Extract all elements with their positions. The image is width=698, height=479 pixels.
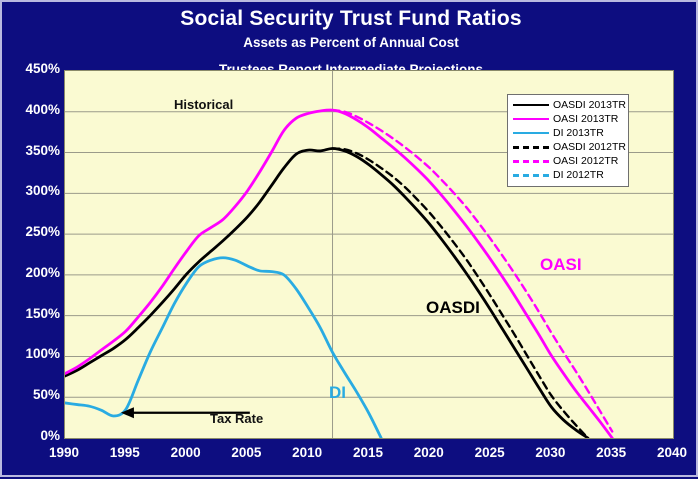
y-axis-tick-label: 450% [4,61,60,76]
legend-item-label: OASDI 2012TR [553,141,626,153]
annotation-historical: Historical [174,97,233,112]
chart-frame: Social Security Trust Fund Ratios Assets… [0,0,698,477]
series-label-di: DI [329,383,346,403]
series-line-oasdi-2012tr [333,148,588,438]
y-axis-tick-label: 50% [4,387,60,402]
y-axis-tick-label: 250% [4,224,60,239]
x-axis-tick-label: 1990 [36,445,92,460]
legend-item-label: DI 2013TR [553,127,604,139]
chart-title: Social Security Trust Fund Ratios [2,6,698,32]
legend-item-label: OASDI 2013TR [553,99,626,111]
x-axis-tick-label: 2025 [462,445,518,460]
series-label-oasi: OASI [540,255,582,275]
x-axis-tick-label: 2015 [340,445,396,460]
y-axis-tick-label: 350% [4,143,60,158]
annotation-tax-rate: Tax Rate [210,411,263,426]
legend-item[interactable]: DI 2012TR [512,168,624,182]
legend-swatch-icon [512,127,550,139]
legend-item[interactable]: OASI 2013TR [512,112,624,126]
y-axis: 450%400%350%300%250%200%150%100%50%0% [2,2,60,479]
series-line-oasdi-2013tr [65,148,588,438]
legend-item[interactable]: OASDI 2013TR [512,98,624,112]
x-axis-tick-label: 2030 [522,445,578,460]
legend-item[interactable]: OASI 2012TR [512,154,624,168]
x-axis-tick-label: 2035 [583,445,639,460]
legend-item[interactable]: OASDI 2012TR [512,140,624,154]
legend-swatch-icon [512,113,550,125]
legend-item-label: OASI 2013TR [553,113,618,125]
series-label-oasdi: OASDI [426,298,480,318]
y-axis-tick-label: 400% [4,102,60,117]
y-axis-tick-label: 300% [4,183,60,198]
x-axis: 1990199520002005201020152020202520302035… [2,445,698,469]
legend-swatch-icon [512,169,550,181]
legend-item-label: DI 2012TR [553,169,604,181]
legend-swatch-icon [512,155,550,167]
legend-item[interactable]: DI 2013TR [512,126,624,140]
x-axis-tick-label: 2040 [644,445,698,460]
y-axis-tick-label: 150% [4,306,60,321]
y-axis-tick-label: 0% [4,428,60,443]
x-axis-tick-label: 1995 [97,445,153,460]
legend-item-label: OASI 2012TR [553,155,618,167]
chart-subtitle: Assets as Percent of Annual Cost [2,33,698,52]
x-axis-tick-label: 2010 [279,445,335,460]
title-block: Social Security Trust Fund Ratios Assets… [2,6,698,52]
x-axis-tick-label: 2005 [218,445,274,460]
x-axis-tick-label: 2020 [401,445,457,460]
y-axis-tick-label: 200% [4,265,60,280]
x-axis-tick-label: 2000 [158,445,214,460]
y-axis-tick-label: 100% [4,346,60,361]
legend: OASDI 2013TROASI 2013TRDI 2013TROASDI 20… [507,94,629,187]
legend-swatch-icon [512,99,550,111]
legend-swatch-icon [512,141,550,153]
